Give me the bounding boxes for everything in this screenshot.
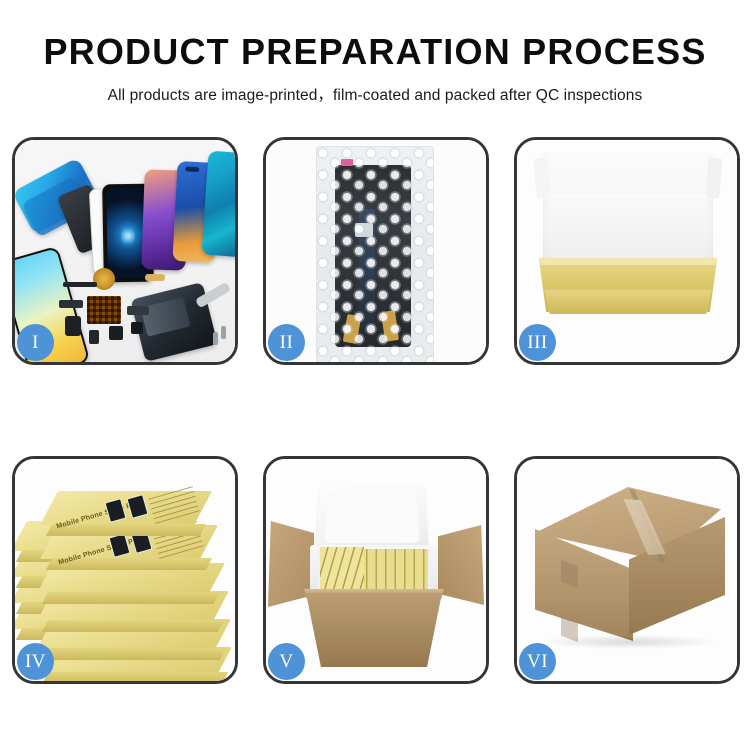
chip-grid-icon bbox=[87, 296, 121, 324]
mainboard-icon bbox=[141, 297, 191, 337]
steps-grid: I II bbox=[12, 137, 740, 684]
yellow-box-lip-icon bbox=[539, 258, 717, 265]
flex-connector-icon bbox=[145, 274, 165, 281]
page-subtitle: All products are image-printed，film-coat… bbox=[0, 83, 750, 105]
step-badge-4: IV bbox=[17, 643, 54, 680]
yellow-boxes-tilted-icon bbox=[320, 547, 364, 591]
speaker-coil-icon bbox=[93, 268, 115, 290]
button-flex-icon bbox=[89, 330, 99, 344]
wallpaper-glow-icon bbox=[121, 223, 135, 248]
step-panel-5: V bbox=[263, 456, 489, 684]
box-stack: Mobile Phone Spare Parts Mobile Phone Sp… bbox=[15, 477, 235, 673]
step-panel-6: VI bbox=[514, 456, 740, 684]
bubble-wrap-bag bbox=[316, 146, 434, 362]
earpiece-bar-icon bbox=[63, 282, 97, 287]
step-badge-3: III bbox=[519, 324, 556, 361]
vibrator-icon bbox=[109, 326, 123, 340]
step-panel-2: II bbox=[263, 137, 489, 365]
header: PRODUCT PREPARATION PROCESS All products… bbox=[0, 0, 750, 105]
screw-icon bbox=[221, 326, 226, 339]
sim-tray-icon bbox=[65, 316, 81, 336]
step-badge-6: VI bbox=[519, 643, 556, 680]
step-badge-5: V bbox=[268, 643, 305, 680]
step-panel-4: Mobile Phone Spare Parts Mobile Phone Sp… bbox=[12, 456, 238, 684]
bubbles-texture bbox=[317, 147, 433, 362]
camera-pill-icon bbox=[185, 166, 199, 172]
pink-qc-sticker-icon bbox=[341, 159, 353, 166]
stacked-box-printed: Mobile Phone Spare Parts bbox=[49, 491, 203, 525]
step-badge-2: II bbox=[268, 324, 305, 361]
screw-icon bbox=[213, 332, 218, 345]
carton-shadow bbox=[541, 635, 717, 649]
flex-cable-icon bbox=[59, 300, 83, 308]
antenna-flex-icon bbox=[127, 306, 149, 315]
camera-module-icon bbox=[131, 322, 143, 334]
foam-sheet-icon bbox=[549, 194, 707, 266]
foam-lid-open-icon bbox=[315, 484, 429, 553]
carton-flap-right-icon bbox=[438, 525, 484, 605]
yellow-box-front-icon bbox=[541, 290, 715, 314]
step-panel-3: III bbox=[514, 137, 740, 365]
page-title: PRODUCT PREPARATION PROCESS bbox=[0, 34, 750, 70]
step-badge-1: I bbox=[17, 324, 54, 361]
product-preparation-infographic: PRODUCT PREPARATION PROCESS All products… bbox=[0, 0, 750, 750]
step-panel-1: I bbox=[12, 137, 238, 365]
carton-body-icon bbox=[306, 593, 442, 667]
